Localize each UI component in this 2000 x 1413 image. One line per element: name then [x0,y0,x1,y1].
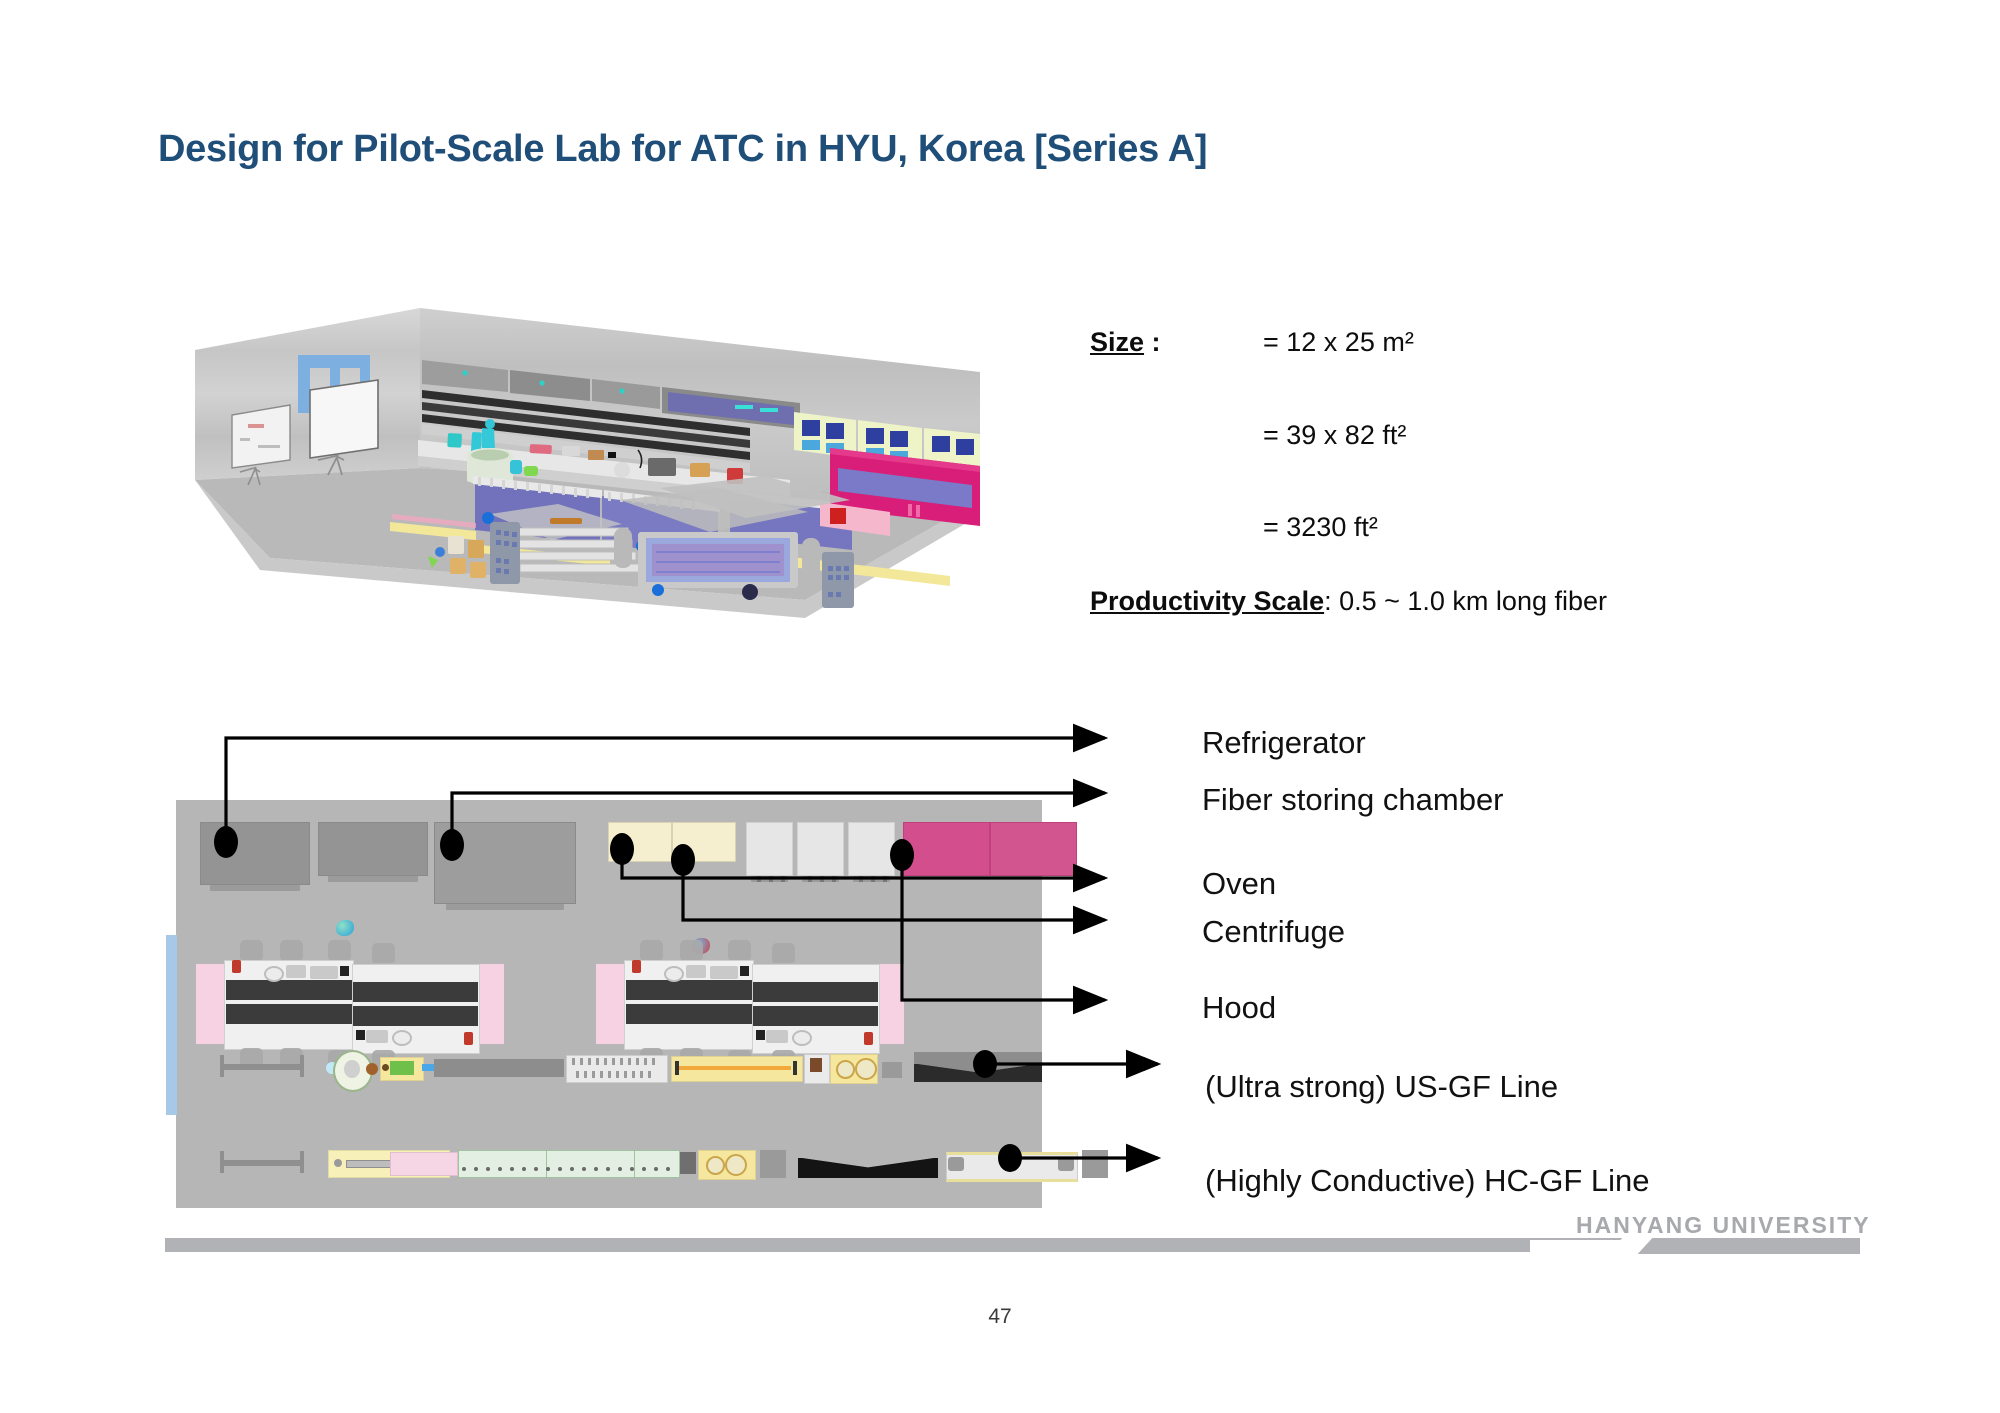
equipment-foot [751,876,789,882]
floorplan-fiber-storing-chamber [434,822,576,904]
productivity-scale: Productivity Scale: 0.5 ~ 1.0 km long fi… [1090,586,1607,617]
bench-tap-a [632,960,641,973]
bench-box-c [366,1030,388,1043]
hc-gf-cabinet-b [1082,1150,1108,1178]
size-label-suffix: : [1144,327,1161,357]
bench-sink-b [792,1030,812,1046]
floorplan-centrifuge-b [797,822,844,876]
stool [328,940,351,960]
slide-canvas: Design for Pilot-Scale Lab for ATC in HY… [0,0,2000,1413]
callout-label-hood: Hood [1202,990,1276,1026]
hc-gf-feed-port [334,1159,342,1167]
bench-tap-b [464,1032,473,1045]
size-label: Size : [1090,327,1161,358]
bench-slab-d [353,1006,478,1026]
lab-bench-left [196,956,504,1052]
bench-fixture-b [756,1030,765,1040]
stool [240,940,263,960]
callout-label-oven: Oven [1202,866,1276,902]
floorplan-refrigerator-a [200,822,310,885]
us-gf-winder-spool-b [855,1058,877,1080]
us-gf-rail-cap-right [300,1055,304,1077]
callout-label-us-gf-line: (Ultra strong) US-GF Line [1205,1069,1558,1105]
hc-gf-exhaust-wedge [798,1158,938,1178]
callout-label-fiber-storing-chamber: Fiber storing chamber [1202,782,1504,818]
floorplan-centrifuge-c [848,822,895,876]
floorplan-refrigerator-b [318,822,428,876]
us-gf-oven-end-a [675,1061,679,1075]
hc-gf-takeup-roller-a [948,1157,964,1171]
hc-gf-rail [220,1160,304,1166]
bench-slab-a [626,980,752,1000]
stool [280,940,303,960]
stool [728,940,751,960]
hc-gf-rail-cap-left [220,1151,224,1173]
stool [372,943,395,963]
bench-sink-a [264,966,284,982]
page-title: Design for Pilot-Scale Lab for ATC in HY… [158,128,1207,171]
size-value-feet: = 39 x 82 ft² [1263,420,1406,451]
equipment-foot [210,885,301,891]
us-gf-spinneret [326,1050,366,1088]
prop-globe-a [336,920,354,936]
us-gf-oven-end-b [793,1061,797,1075]
bench-sink-b [392,1030,412,1046]
us-gf-exhaust-wedge [914,1064,1042,1082]
productivity-scale-label: Productivity Scale [1090,586,1324,616]
stool [640,940,663,960]
hc-gf-winder-spool-a [706,1156,725,1175]
bench-slab-d [753,1006,878,1026]
us-gf-feeder-core [390,1061,414,1075]
bench-slab-b [226,1004,352,1024]
floorplan-hood-a [903,822,990,876]
lab-3d-render [190,300,1000,630]
bench-sink-a [664,966,684,982]
bench-slab-c [353,982,478,1002]
bench-fixture-b [356,1030,365,1040]
equipment-foot [446,904,564,910]
bench-box-b [710,966,738,979]
bench-box-b [310,966,338,979]
hc-gf-cabinet-a [760,1150,786,1178]
hc-gf-winder-spool-b [725,1154,747,1176]
bath-dots-svg [460,1165,678,1173]
bench-pad-left [196,964,226,1044]
hc-gf-feed-screw [346,1160,392,1168]
floorplan-oven-b [672,822,736,862]
hc-gf-takeup-roller-b [1058,1157,1074,1171]
us-gf-control-face [810,1058,822,1072]
size-value-area: = 3230 ft² [1263,512,1378,543]
callout-label-refrigerator: Refrigerator [1202,725,1366,761]
equipment-foot [853,876,891,882]
bench-box-a [286,965,306,978]
us-gf-rail [220,1064,304,1070]
bench-slab-b [626,1004,752,1024]
size-label-text: Size [1090,327,1144,357]
productivity-scale-value: : 0.5 ~ 1.0 km long fiber [1324,586,1607,616]
bench-box-c [766,1030,788,1043]
door-left [166,935,177,1115]
floorplan-centrifuge-a [746,822,793,876]
stool [772,943,795,963]
floorplan-hood-b [990,822,1077,876]
hc-gf-bath-dots [460,1160,678,1168]
hc-gf-control-box [680,1152,696,1174]
page-number: 47 [0,1305,2000,1329]
bench-fixture-a [340,966,349,976]
bench-pad-left [596,964,626,1044]
lab-bench-right [596,956,904,1052]
university-logo-text: HANYANG UNIVERSITY [1576,1212,1871,1239]
bench-slab-a [226,980,352,1000]
equipment-foot [802,876,840,882]
lab-3d-render-svg [190,300,1000,630]
us-gf-bath-rollers [570,1057,662,1079]
us-gf-feeder-inlet [382,1064,389,1071]
callout-label-hc-gf-line: (Highly Conductive) HC-GF Line [1205,1163,1649,1199]
equipment-foot [328,876,419,882]
us-gf-extruder [434,1059,564,1077]
bench-tap-b [864,1032,873,1045]
floorplan-oven-a [608,822,672,862]
us-gf-cabinet [882,1062,902,1078]
callout-label-centrifuge: Centrifuge [1202,914,1345,950]
size-value-metric: = 12 x 25 m² [1263,327,1414,358]
bench-box-a [686,965,706,978]
stool [680,940,703,960]
us-gf-oven-element [679,1066,791,1070]
hc-gf-reservoir [390,1152,458,1176]
bench-slab-c [753,982,878,1002]
us-gf-winder-spool-a [836,1060,855,1079]
bath-roller-svg [570,1057,662,1079]
us-gf-rail-cap-left [220,1055,224,1077]
hc-gf-rail-cap-right [300,1151,304,1173]
bench-fixture-a [740,966,749,976]
lab-floorplan [176,800,1042,1208]
bench-tap-a [232,960,241,973]
us-gf-connector [422,1064,434,1071]
